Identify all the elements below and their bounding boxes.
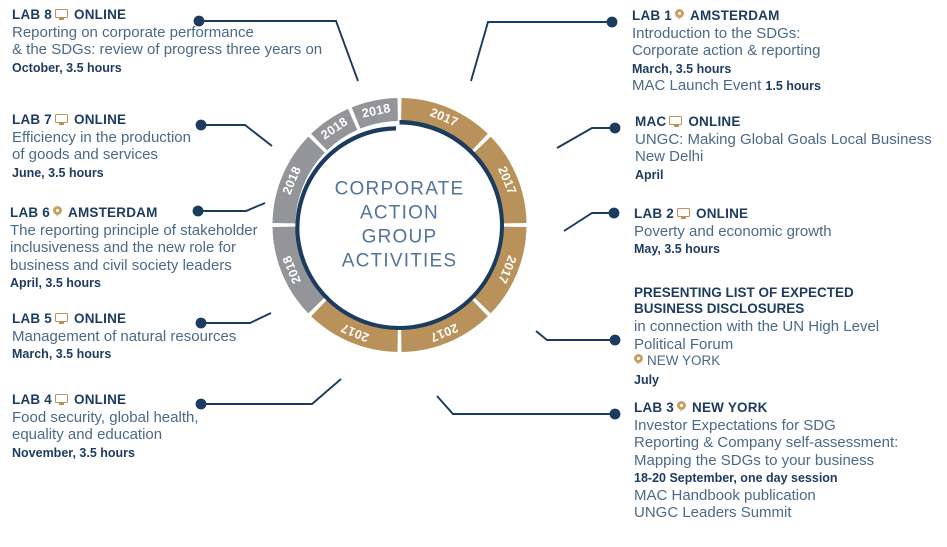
disclosures-location: NEW YORK	[634, 353, 879, 369]
entry-description: in connection with the UN High Level Pol…	[634, 318, 879, 353]
center-title-line: ACTIVITIES	[342, 251, 457, 272]
entry-title: MAC	[635, 114, 666, 129]
monitor-icon	[669, 116, 682, 127]
donut-segment-label: 2018	[280, 254, 304, 286]
connector-lab7	[201, 125, 272, 146]
entry-meta: May, 3.5 hours	[634, 242, 832, 258]
center-title-line: GROUP	[362, 227, 438, 248]
monitor-icon	[55, 394, 68, 405]
entry-header: LAB 5ONLINE	[12, 311, 236, 327]
donut-segment[interactable]	[273, 227, 325, 314]
entry-lab8[interactable]: LAB 8ONLINE Reporting on corporate perfo…	[12, 7, 322, 76]
entry-title: LAB 4	[12, 392, 52, 407]
entry-description: UNGC: Making Global Goals Local Business…	[635, 131, 932, 166]
connector-disclosures	[536, 331, 615, 340]
entry-title: LAB 8	[12, 7, 52, 22]
pin-icon	[677, 401, 686, 414]
entry-header: LAB 3NEW YORK	[634, 400, 898, 416]
pin-icon	[675, 9, 684, 22]
connector-lab2	[564, 213, 614, 231]
monitor-icon	[677, 208, 690, 219]
entry-title: LAB 5	[12, 311, 52, 326]
entry-title: LAB 3	[634, 400, 674, 415]
entry-description: Management of natural resources	[12, 328, 236, 345]
donut-chart: 201720172017201720172018201820182018	[273, 98, 527, 352]
entry-mac[interactable]: MACONLINE UNGC: Making Global Goals Loca…	[635, 114, 932, 183]
entry-disclosures[interactable]: PRESENTING LIST OF EXPECTED BUSINESS DIS…	[634, 285, 879, 388]
entry-lab7[interactable]: LAB 7ONLINE Efficiency in the production…	[12, 112, 191, 181]
connector-lab1	[471, 22, 612, 81]
donut-segment-label: 2017	[339, 321, 371, 345]
donut-segment[interactable]	[273, 137, 325, 224]
entry-description: The reporting principle of stakeholder i…	[10, 222, 258, 274]
entry-meta: March, 3.5 hours	[632, 62, 821, 78]
entry-meta: July	[634, 373, 879, 389]
entry-extra: MAC Launch Event 1.5 hours	[632, 77, 821, 95]
infographic-canvas: 201720172017201720172018201820182018 COR…	[0, 0, 947, 547]
entry-description: Food security, global health, equality a…	[12, 409, 199, 444]
disclosures-heading: PRESENTING LIST OF EXPECTED BUSINESS DIS…	[634, 285, 879, 317]
entry-header: LAB 1AMSTERDAM	[632, 8, 821, 24]
entry-meta: 18-20 September, one day session	[634, 471, 898, 487]
donut-segment-label: 2018	[318, 115, 350, 143]
dot-lab2	[609, 208, 620, 219]
entry-description: Introduction to the SDGs: Corporate acti…	[632, 25, 821, 60]
connector-lab4	[201, 379, 341, 404]
dot-lab3	[610, 409, 621, 420]
entry-mode: ONLINE	[74, 112, 126, 127]
entry-description: Reporting on corporate performance & the…	[12, 24, 322, 59]
entry-mode: NEW YORK	[692, 400, 768, 415]
entry-header: LAB 2ONLINE	[634, 206, 832, 222]
entry-extra: MAC Handbook publication	[634, 487, 898, 504]
entry-lab4[interactable]: LAB 4ONLINE Food security, global health…	[12, 392, 199, 461]
monitor-icon	[55, 9, 68, 20]
entry-description: Efficiency in the production of goods an…	[12, 129, 191, 164]
entry-lab6[interactable]: LAB 6AMSTERDAM The reporting principle o…	[10, 205, 258, 292]
donut-segment-label: 2018	[361, 101, 392, 121]
center-title: CORPORATEACTIONGROUPACTIVITIES	[335, 179, 465, 272]
center-title-line: ACTION	[360, 203, 439, 224]
entry-header: MACONLINE	[635, 114, 932, 130]
entry-title: LAB 6	[10, 205, 50, 220]
entry-header: LAB 6AMSTERDAM	[10, 205, 258, 221]
entry-mode: ONLINE	[74, 311, 126, 326]
entry-description: Investor Expectations for SDG Reporting …	[634, 417, 898, 469]
entry-meta: October, 3.5 hours	[12, 61, 322, 77]
entry-description: Poverty and economic growth	[634, 223, 832, 240]
donut-segment[interactable]	[474, 227, 526, 314]
connector-mac	[557, 128, 615, 148]
donut-segment[interactable]	[474, 137, 526, 224]
entry-title: LAB 2	[634, 206, 674, 221]
entry-lab1[interactable]: LAB 1AMSTERDAM Introduction to the SDGs:…	[632, 8, 821, 95]
entry-mode: AMSTERDAM	[690, 8, 780, 23]
dot-disclosures	[610, 335, 621, 346]
dot-lab1	[607, 17, 618, 28]
entry-title: LAB 1	[632, 8, 672, 23]
connector-lines-right	[437, 22, 615, 414]
donut-segment[interactable]	[311, 109, 357, 150]
entry-meta: June, 3.5 hours	[12, 166, 191, 182]
progress-spiral	[295, 120, 504, 330]
donut-segment[interactable]	[311, 300, 398, 352]
donut-segment[interactable]	[401, 98, 488, 150]
entry-lab5[interactable]: LAB 5ONLINE Management of natural resour…	[12, 311, 236, 363]
entry-meta: November, 3.5 hours	[12, 446, 199, 462]
entry-meta: March, 3.5 hours	[12, 347, 236, 363]
entry-header: LAB 4ONLINE	[12, 392, 199, 408]
entry-mode: ONLINE	[74, 392, 126, 407]
pin-icon	[634, 354, 643, 367]
donut-segment[interactable]	[401, 300, 488, 352]
center-title-line: CORPORATE	[335, 179, 465, 200]
entry-mode: ONLINE	[688, 114, 740, 129]
entry-meta: April	[635, 168, 932, 184]
entry-extra: UNGC Leaders Summit	[634, 504, 898, 521]
donut-segment-label: 2017	[495, 254, 519, 286]
entry-mode: ONLINE	[74, 7, 126, 22]
connector-dots-right	[607, 17, 621, 420]
pin-icon	[53, 206, 62, 219]
entry-title: LAB 7	[12, 112, 52, 127]
monitor-icon	[55, 313, 68, 324]
entry-lab2[interactable]: LAB 2ONLINE Poverty and economic growth …	[634, 206, 832, 258]
donut-segment[interactable]	[352, 98, 398, 129]
connector-lab3	[437, 396, 615, 414]
monitor-icon	[55, 114, 68, 125]
donut-segment-label: 2017	[428, 321, 460, 345]
entry-lab3[interactable]: LAB 3NEW YORK Investor Expectations for …	[634, 400, 898, 522]
entry-mode: ONLINE	[696, 206, 748, 221]
entry-meta: April, 3.5 hours	[10, 276, 258, 292]
donut-segment-label: 2018	[280, 164, 304, 196]
entry-mode: AMSTERDAM	[68, 205, 158, 220]
entry-header: LAB 8ONLINE	[12, 7, 322, 23]
dot-mac	[610, 123, 621, 134]
dot-lab7	[196, 120, 207, 131]
entry-header: LAB 7ONLINE	[12, 112, 191, 128]
donut-segment-label: 2017	[495, 164, 519, 196]
donut-segment-label: 2017	[428, 105, 460, 129]
